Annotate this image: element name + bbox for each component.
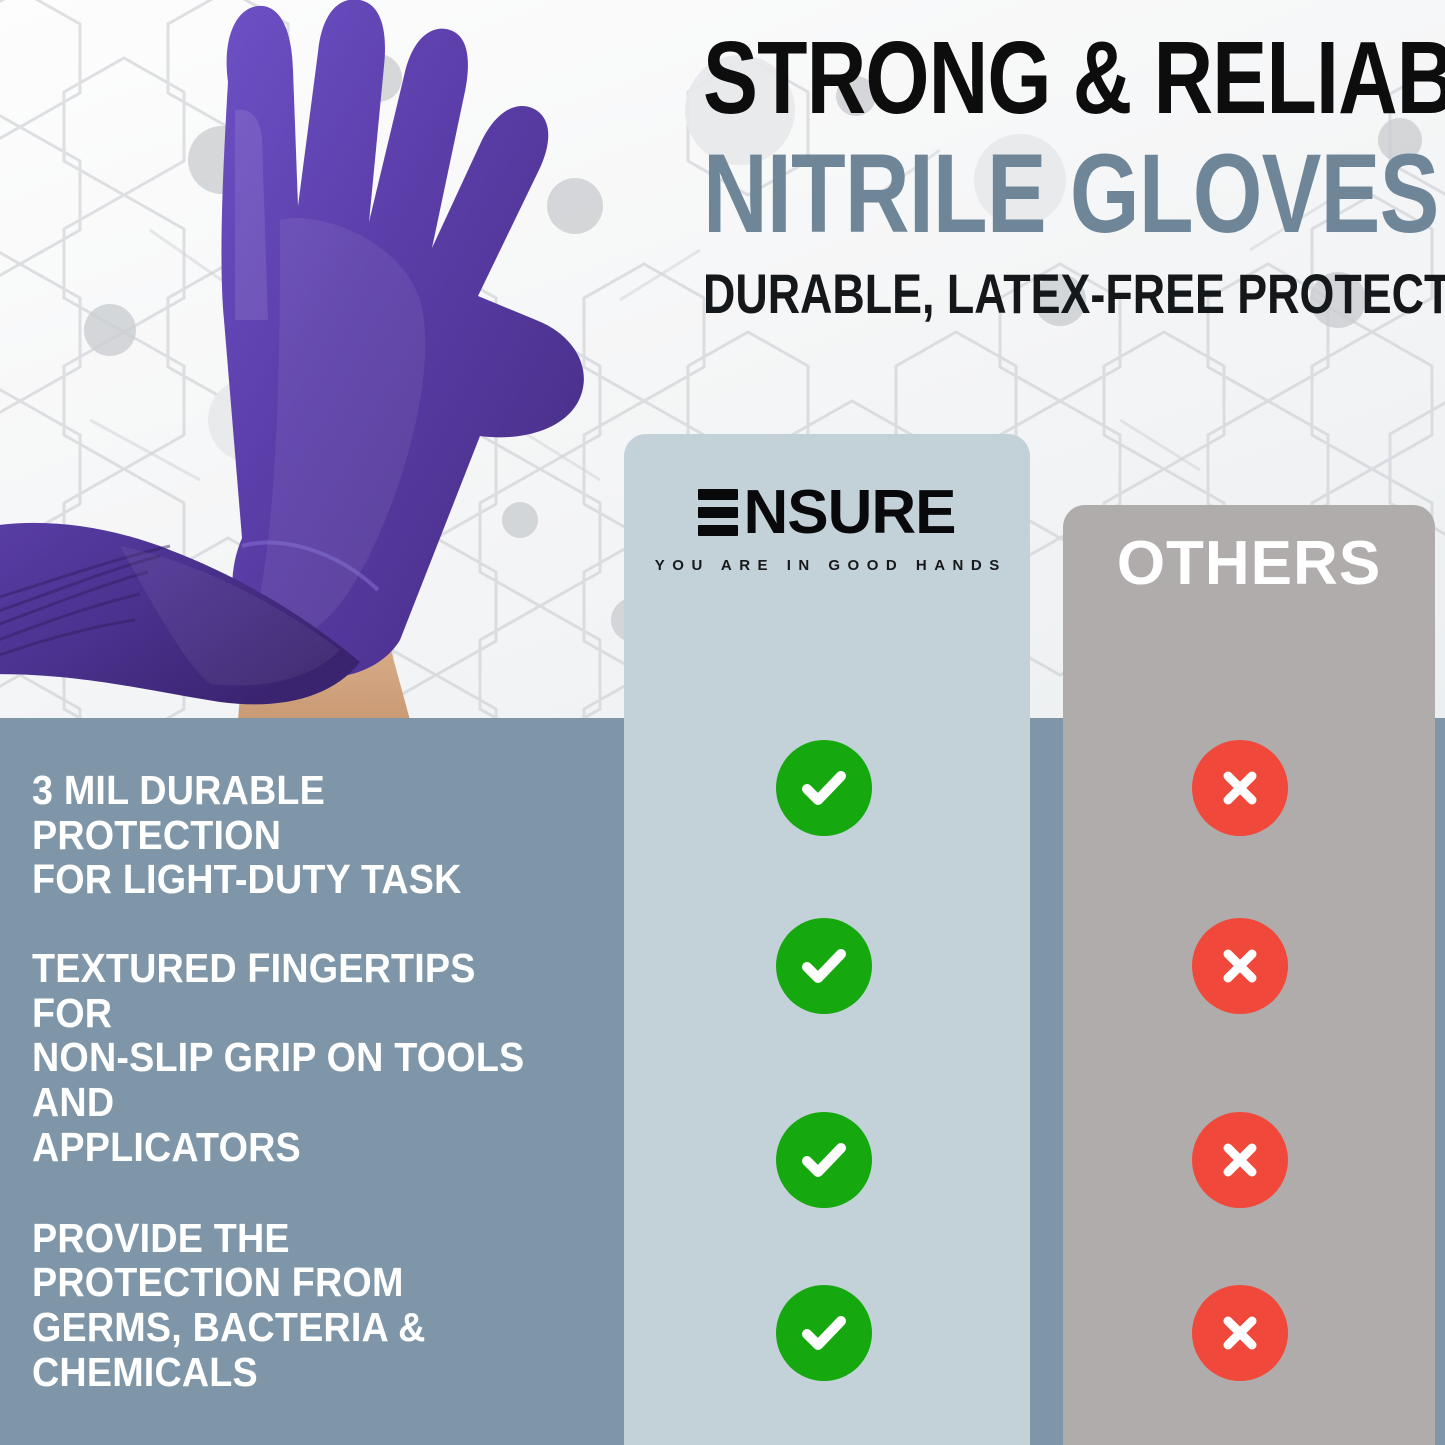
cross-icon (1192, 1285, 1288, 1381)
logo-mark: NSURE (698, 482, 955, 544)
others-title: OTHERS (1063, 533, 1435, 595)
headline-block: STRONG & RELIABLE NITRILE GLOVES DURABLE… (520, 28, 1435, 324)
infographic-root: STRONG & RELIABLE NITRILE GLOVES DURABLE… (0, 0, 1445, 1445)
logo-tagline: YOU ARE IN GOOD HANDS (647, 557, 1006, 574)
logo-e-bars-icon (698, 489, 738, 538)
check-icon (776, 918, 872, 1014)
check-icon (776, 740, 872, 836)
feature-list: 3 MIL DURABLE PROTECTIONFOR LIGHT-DUTY T… (0, 718, 624, 1445)
cross-icon (1192, 918, 1288, 1014)
headline-secondary: NITRILE GLOVES (703, 137, 1435, 251)
cross-icon (1192, 1112, 1288, 1208)
check-icon (776, 1112, 872, 1208)
feature-item: PROVIDE THE PROTECTION FROMGERMS, BACTER… (32, 1216, 549, 1395)
feature-item: 3 MIL DURABLE PROTECTIONFOR LIGHT-DUTY T… (32, 768, 549, 902)
check-icon (776, 1285, 872, 1381)
ensure-logo: NSURE YOU ARE IN GOOD HANDS (624, 482, 1030, 574)
headline-subtitle: DURABLE, LATEX-FREE PROTECTION (703, 265, 1435, 324)
feature-item: TEXTURED FINGERTIPS FORNON-SLIP GRIP ON … (32, 946, 549, 1169)
cross-icon (1192, 740, 1288, 836)
logo-wordmark: NSURE (743, 482, 955, 544)
headline-primary: STRONG & RELIABLE (703, 28, 1435, 129)
